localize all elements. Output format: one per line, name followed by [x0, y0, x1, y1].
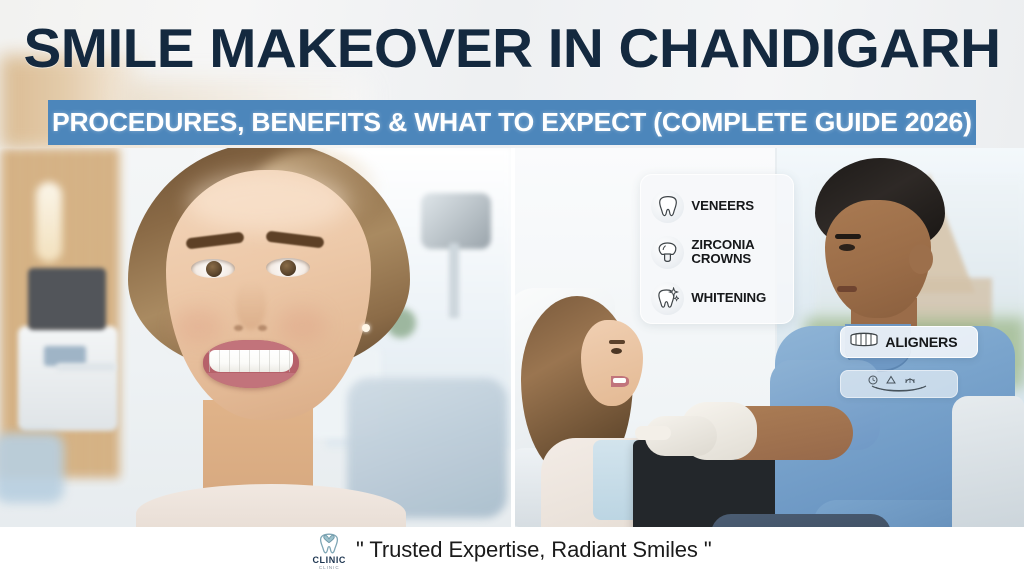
nostril-right [258, 325, 267, 331]
crown-icon [651, 236, 684, 269]
iris-left [206, 261, 222, 277]
procedure-label-veneers: VENEERS [691, 199, 754, 213]
procedure-item-whitening[interactable]: WHITENING [641, 275, 793, 321]
subtitle-text: PROCEDURES, BENEFITS & WHAT TO EXPECT (C… [52, 107, 972, 138]
procedure-item-veneers[interactable]: VENEERS [641, 183, 793, 229]
clinic-logo-sub: CLINIC [319, 566, 340, 571]
pointing-finger [635, 426, 671, 440]
subtitle-banner: PROCEDURES, BENEFITS & WHAT TO EXPECT (C… [48, 100, 976, 145]
clinic-logo: CLINIC CLINIC [312, 531, 346, 571]
lamp-arm [449, 243, 459, 318]
nose [236, 282, 266, 330]
nostril-left [234, 325, 243, 331]
tooth-heart-logo-icon [315, 531, 343, 555]
dental-arch-icons [860, 375, 938, 393]
clinic-logo-name: CLINIC [312, 556, 346, 565]
smiling-mouth [203, 340, 299, 388]
secondary-icons-pill[interactable] [840, 370, 958, 398]
left-photo-smiling-woman: AFTER: RADIANT CONFIDENCE [0, 148, 511, 527]
woman-portrait [118, 148, 418, 527]
header-band: SMILE MAKEOVER IN CHANDIGARH PROCEDURES,… [0, 0, 1024, 150]
footer-tagline: " Trusted Expertise, Radiant Smiles " [356, 537, 712, 563]
patient-eyebrow [609, 340, 625, 344]
dentist-mouth [837, 286, 857, 292]
forehead-highlight [188, 172, 348, 232]
page-title: SMILE MAKEOVER IN CHANDIGARH [0, 18, 1024, 78]
wall-lamp [36, 182, 62, 262]
aligner-tray-icon [849, 330, 879, 355]
dental-operatory-lamp [421, 193, 491, 249]
patient-teeth [613, 378, 626, 383]
right-photo-consultation: VENEERS ZIRCONIA CROWNS [515, 148, 1024, 527]
patient-eye [611, 348, 622, 354]
iris-right [280, 260, 296, 276]
dentist-trousers [711, 514, 891, 527]
lower-lip [203, 373, 299, 388]
procedure-label-whitening: WHITENING [691, 291, 766, 305]
instrument-tray-arm [56, 363, 116, 371]
cheek-right [278, 307, 326, 343]
tooth-icon [651, 190, 684, 223]
blue-chair-accent [0, 433, 64, 503]
dentist-stool [952, 396, 1024, 527]
white-teeth [209, 350, 293, 372]
dentist-ear [909, 244, 933, 274]
earring [362, 324, 370, 332]
procedure-item-zirconia-crowns[interactable]: ZIRCONIA CROWNS [641, 229, 793, 275]
dentist-eyebrow [835, 234, 861, 239]
dentist-eye [839, 244, 855, 251]
photo-strip: AFTER: RADIANT CONFIDENCE [0, 148, 1024, 527]
aligners-pill[interactable]: ALIGNERS [840, 326, 978, 358]
procedures-panel: VENEERS ZIRCONIA CROWNS [640, 174, 794, 324]
shoulders [136, 484, 406, 527]
clinic-monitor [28, 268, 106, 330]
dental-unit-body [18, 326, 118, 431]
poster-root: SMILE MAKEOVER IN CHANDIGARH PROCEDURES,… [0, 0, 1024, 572]
whitening-tooth-sparkle-icon [651, 282, 684, 315]
cheek-left [174, 308, 222, 344]
footer-bar: CLINIC CLINIC " Trusted Expertise, Radia… [0, 527, 1024, 572]
aligners-label: ALIGNERS [885, 334, 957, 350]
procedure-label-zirconia-crowns: ZIRCONIA CROWNS [691, 238, 754, 266]
